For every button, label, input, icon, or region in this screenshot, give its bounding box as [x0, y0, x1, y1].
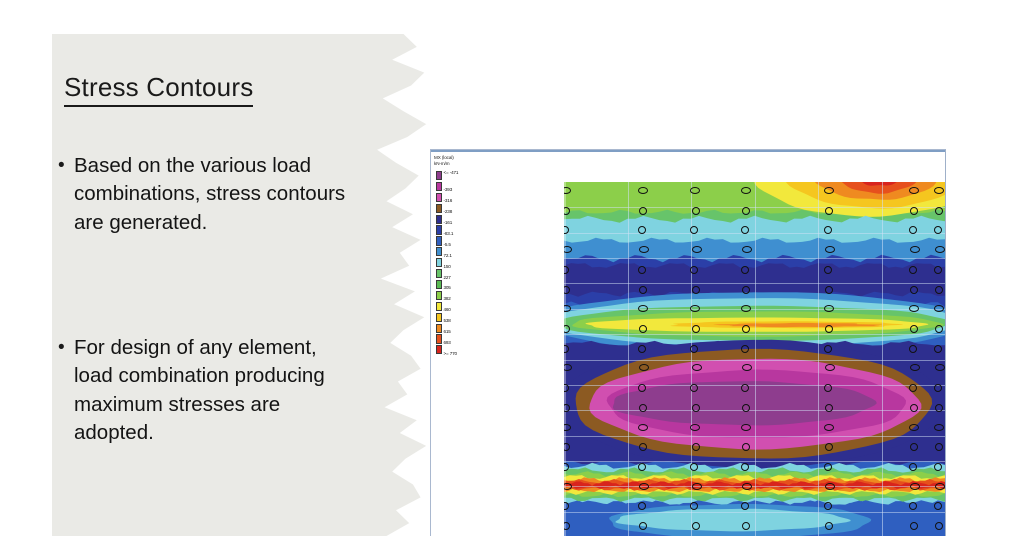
legend-color-swatch [436, 182, 442, 191]
legend-entry: -316 [434, 192, 482, 203]
legend-value-label: -161 [444, 220, 453, 225]
legend-color-swatch [436, 258, 442, 267]
legend-value-label: 382 [444, 296, 451, 301]
legend-value-label: 72.1 [444, 253, 452, 258]
legend-color-swatch [436, 280, 442, 289]
legend-entry: 150 [434, 257, 482, 268]
legend-entry: 305 [434, 279, 482, 290]
legend-color-swatch [436, 204, 442, 213]
legend-entry-list: <= -471-393-316-238-161-83.1-5.572.11502… [434, 170, 482, 355]
legend-value-label: 227 [444, 275, 451, 280]
legend-entry: 538 [434, 312, 482, 323]
legend-entry: 227 [434, 268, 482, 279]
legend-entry: -238 [434, 203, 482, 214]
legend-entry: -393 [434, 181, 482, 192]
legend-value-label: -393 [444, 187, 453, 192]
legend-entry: <= -471 [434, 170, 482, 181]
legend-entry: >= 770 [434, 344, 482, 355]
figure-top-border [431, 150, 945, 152]
bullet-item-1: • Based on the various load combinations… [58, 152, 358, 237]
text-panel [52, 34, 430, 536]
bullet-item-2: • For design of any element, load combin… [58, 334, 358, 447]
legend-color-swatch [436, 225, 442, 234]
legend-color-swatch [436, 193, 442, 202]
legend-entry: -83.1 [434, 225, 482, 236]
legend-value-label: 305 [444, 285, 451, 290]
page-title-text: Stress Contours [64, 72, 253, 107]
legend-value-label: -83.1 [444, 231, 454, 236]
legend-value-label: -316 [444, 198, 453, 203]
legend-color-swatch [436, 269, 442, 278]
bullet-marker-icon: • [58, 152, 74, 180]
slide-canvas: Stress Contours • Based on the various l… [0, 0, 1024, 536]
contour-field [564, 182, 945, 536]
legend-entry: -5.5 [434, 236, 482, 247]
legend-color-swatch [436, 345, 442, 354]
legend-color-swatch [436, 324, 442, 333]
legend-color-swatch [436, 291, 442, 300]
legend-color-swatch [436, 302, 442, 311]
stress-contour-figure: MX (local) kN-m/m <= -471-393-316-238-16… [430, 149, 946, 536]
legend-units-label: kN-m/m [434, 161, 482, 167]
legend-value-label: 460 [444, 307, 451, 312]
legend-color-swatch [436, 215, 442, 224]
legend-value-label: 150 [444, 264, 451, 269]
legend-value-label: 538 [444, 318, 451, 323]
legend-value-label: -5.5 [444, 242, 451, 247]
legend-value-label: -238 [444, 209, 453, 214]
legend-entry: 615 [434, 323, 482, 334]
legend-entry: 460 [434, 301, 482, 312]
legend-color-swatch [436, 171, 442, 180]
legend-entry: 693 [434, 334, 482, 345]
contour-legend: MX (local) kN-m/m <= -471-393-316-238-16… [434, 155, 482, 355]
contour-plot-area [564, 182, 945, 536]
legend-color-swatch [436, 247, 442, 256]
legend-color-swatch [436, 313, 442, 322]
legend-value-label: 615 [444, 329, 451, 334]
bullet-marker-icon: • [58, 334, 74, 362]
legend-color-swatch [436, 236, 442, 245]
legend-entry: -161 [434, 214, 482, 225]
page-title: Stress Contours [64, 72, 354, 107]
legend-entry: 72.1 [434, 246, 482, 257]
legend-value-label: 693 [444, 340, 451, 345]
legend-value-label: >= 770 [444, 351, 457, 356]
legend-entry: 382 [434, 290, 482, 301]
text-panel-inner [52, 34, 430, 536]
bullet-text-1: Based on the various load combinations, … [74, 152, 358, 237]
bullet-text-2: For design of any element, load combinat… [74, 334, 358, 447]
legend-color-swatch [436, 334, 442, 343]
legend-value-label: <= -471 [444, 170, 459, 175]
